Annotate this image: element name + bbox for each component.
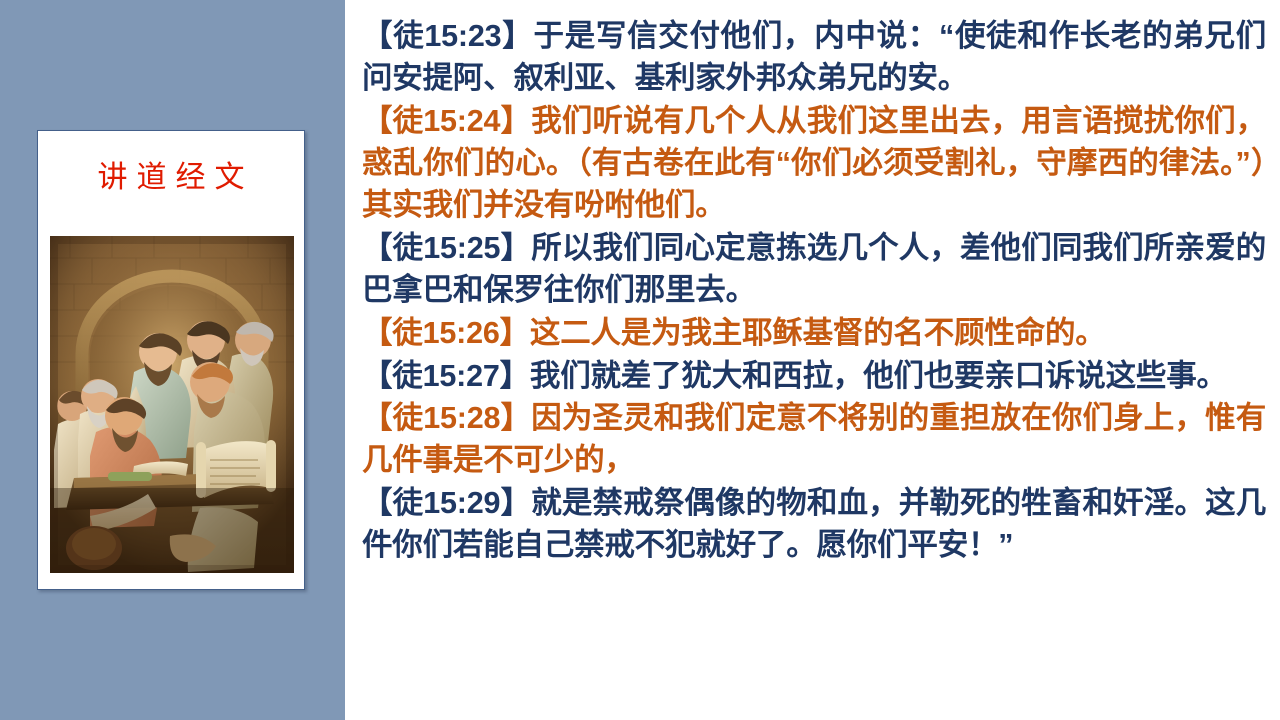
scripture-verse-15-27: 【徒15:27】我们就差了犹大和西拉，他们也要亲口诉说这些事。 [362, 356, 1266, 398]
scripture-verse-15-24: 【徒15:24】我们听说有几个人从我们这里出去，用言语搅扰你们，惑乱你们的心。（… [362, 101, 1266, 227]
left-panel: 讲道经文 [0, 0, 345, 720]
scripture-verse-15-29: 【徒15:29】就是禁戒祭偶像的物和血，并勒死的牲畜和奸淫。这几件你们若能自己禁… [362, 483, 1266, 567]
scripture-verse-15-25: 【徒15:25】所以我们同心定意拣选几个人，差他们同我们所亲爱的巴拿巴和保罗往你… [362, 228, 1266, 312]
page-title: 讲道经文 [38, 163, 304, 193]
scripture-verse-15-23: 【徒15:23】于是写信交付他们，内中说：“使徒和作长老的弟兄们问安提阿、叙利亚… [362, 16, 1266, 100]
title-card: 讲道经文 [37, 130, 305, 590]
scripture-panel: 【徒15:23】于是写信交付他们，内中说：“使徒和作长老的弟兄们问安提阿、叙利亚… [345, 0, 1280, 720]
presentation-slide: 讲道经文 [0, 0, 1280, 720]
council-painting-image [50, 236, 294, 573]
scripture-verse-15-26: 【徒15:26】这二人是为我主耶稣基督的名不顾性命的。 [362, 313, 1266, 355]
scripture-verse-15-28: 【徒15:28】因为圣灵和我们定意不将别的重担放在你们身上，惟有几件事是不可少的… [362, 398, 1266, 482]
